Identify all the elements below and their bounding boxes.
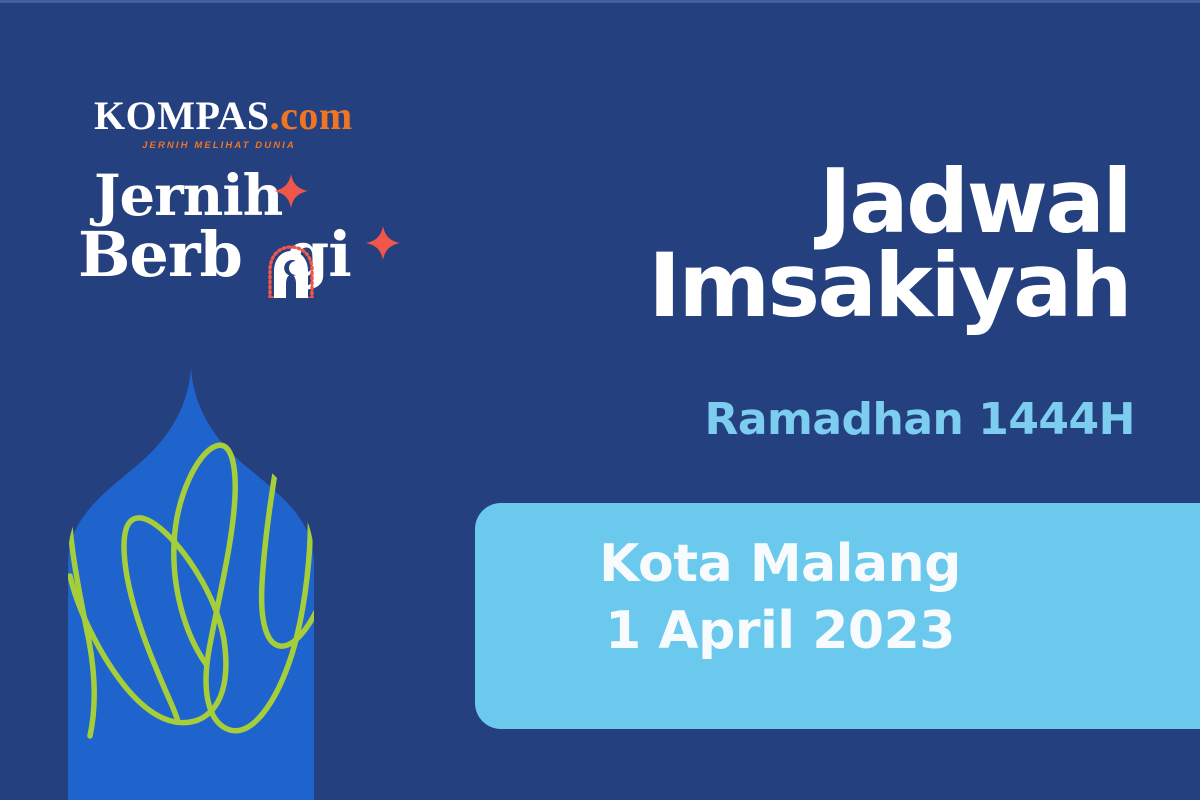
- date-value: 1 April 2023: [475, 598, 1085, 665]
- city-date-panel: Kota Malang 1 April 2023: [475, 503, 1200, 729]
- kompas-logo: KOMPAS.com JERNIH MELIHAT DUNIA: [94, 96, 344, 151]
- headline-line-2: Imsakiyah: [470, 244, 1130, 328]
- mosque-dome-decoration: [66, 368, 356, 800]
- kompas-wordmark: KOMPAS.com: [94, 96, 344, 136]
- kompas-dotcom: .com: [270, 93, 353, 138]
- poster-canvas: KOMPAS.com JERNIH MELIHAT DUNIA Jernih B…: [0, 0, 1200, 800]
- mosque-arch-crescent-icon: [266, 244, 316, 298]
- dome-shape: [68, 368, 314, 800]
- sparkle-four-point-icon: [366, 226, 400, 260]
- kompas-name: KOMPAS: [94, 93, 270, 138]
- city-name: Kota Malang: [475, 531, 1085, 598]
- kompas-tagline: JERNIH MELIHAT DUNIA: [94, 140, 344, 151]
- top-hairline: [0, 0, 1200, 3]
- berbagi-prefix: Berb: [78, 218, 242, 291]
- jernih-berbagi-line-1: Jernih: [94, 168, 282, 224]
- headline-line-1: Jadwal: [470, 160, 1130, 244]
- subtitle: Ramadhan 1444H: [470, 398, 1135, 442]
- sparkle-four-point-icon: [274, 174, 308, 208]
- mosque-dome-icon: [66, 368, 356, 800]
- jernih-berbagi-logo: Jernih Berbgi: [78, 168, 408, 308]
- headline: Jadwal Imsakiyah: [470, 160, 1130, 329]
